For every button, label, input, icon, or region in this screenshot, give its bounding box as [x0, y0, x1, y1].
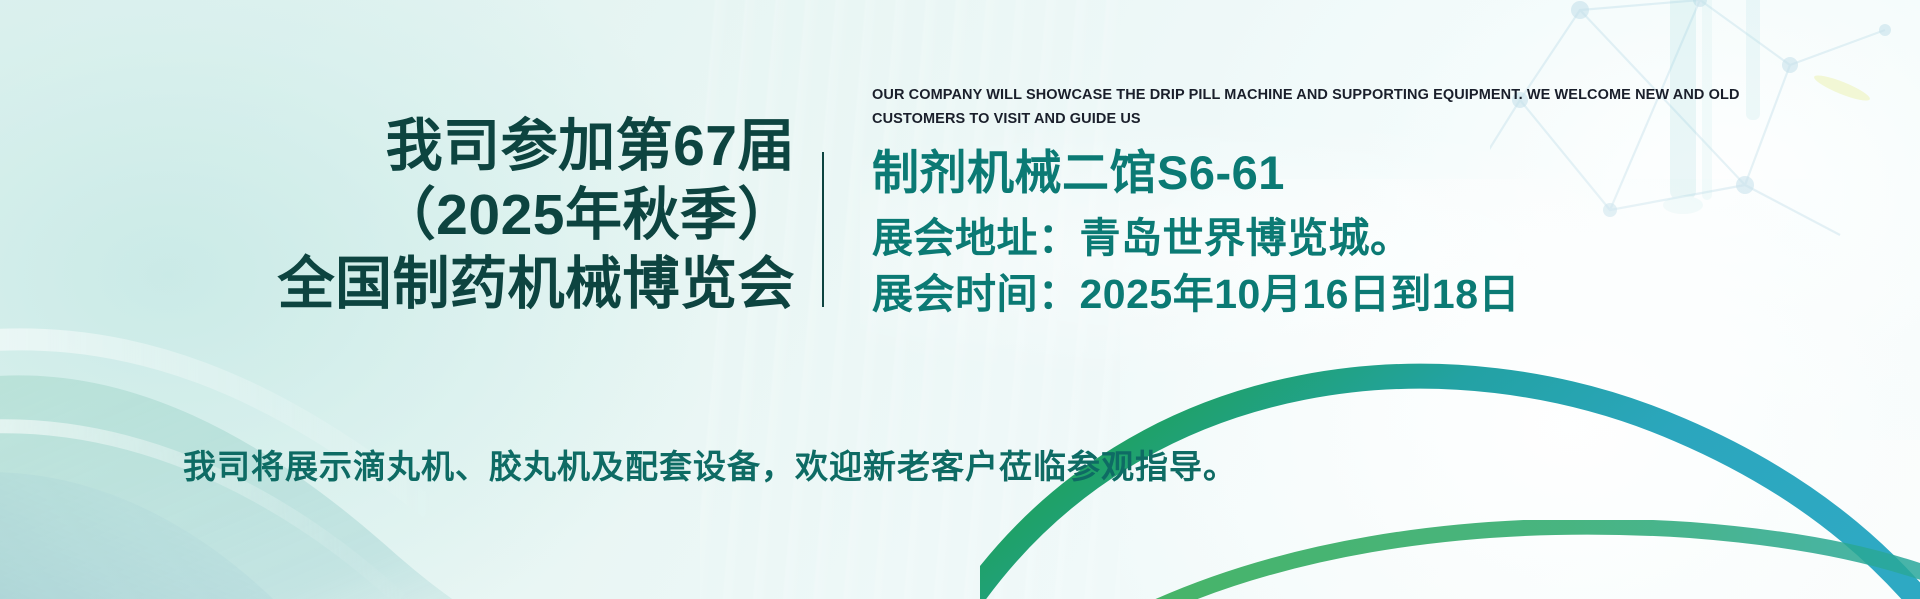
vertical-divider — [822, 152, 824, 307]
exhibition-banner: 我司参加第67届 （2025年秋季） 全国制药机械博览会 OUR COMPANY… — [0, 0, 1920, 599]
tagline: 我司将展示滴丸机、胶丸机及配套设备，欢迎新老客户莅临参观指导。 — [0, 440, 1420, 488]
booth-number: 制剂机械二馆S6-61 — [872, 148, 1882, 198]
headline-line-1: 我司参加第67届 — [120, 112, 795, 181]
venue-line: 展会地址：青岛世界博览城。 — [872, 212, 1882, 264]
details-column: OUR COMPANY WILL SHOWCASE THE DRIP PILL … — [872, 84, 1882, 325]
headline-line-3: 全国制药机械博览会 — [120, 250, 795, 319]
page-title: 我司参加第67届 （2025年秋季） 全国制药机械博览会 — [120, 112, 795, 319]
date-line: 展会时间：2025年10月16日到18日 — [872, 268, 1882, 320]
headline-line-2: （2025年秋季） — [120, 181, 795, 250]
banner-content: 我司参加第67届 （2025年秋季） 全国制药机械博览会 OUR COMPANY… — [0, 0, 1920, 599]
english-caption: OUR COMPANY WILL SHOWCASE THE DRIP PILL … — [872, 84, 1787, 132]
